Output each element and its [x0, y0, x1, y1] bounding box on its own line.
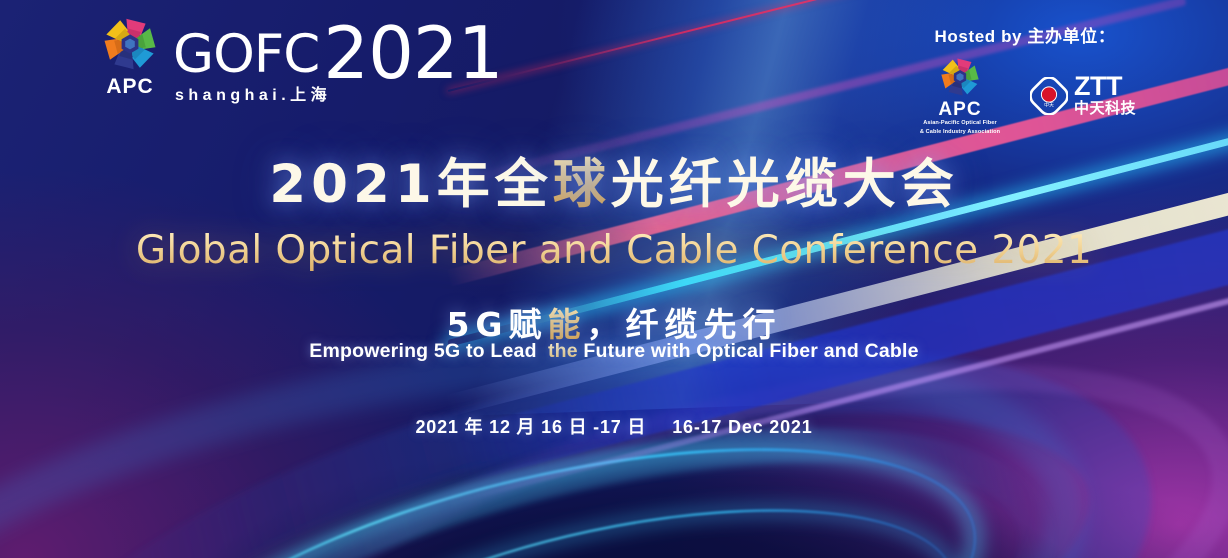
sponsor-apc-fullname-line1: Asian-Pacific Optical Fiber — [923, 120, 997, 128]
slogan-cn-part1: 5G赋 — [446, 305, 547, 344]
main-title-chinese: 2021年全球光纤光缆大会 — [0, 158, 1228, 211]
event-date-chinese: 2021 年 12 月 16 日 -17 日 — [415, 417, 646, 437]
slogan-chinese: 5G赋能，纤缆先行 — [0, 298, 1228, 346]
conference-banner: APC GOFC 2021 shanghai.上海 Hosted by 主办单位… — [0, 0, 1228, 558]
event-date-english: 16-17 Dec 2021 — [672, 417, 812, 437]
ztt-diamond-icon: 中天 — [1030, 77, 1068, 115]
gofc-year: 2021 — [323, 20, 502, 86]
sponsor-logo-ztt: 中天 ZTT 中天科技 — [1030, 74, 1136, 117]
ztt-latin-name: ZTT — [1074, 74, 1136, 100]
gofc-lockup: GOFC 2021 shanghai.上海 — [173, 14, 503, 105]
slogan-cn-highlight: 能 — [548, 305, 587, 344]
hexagon-pinwheel-icon — [938, 55, 982, 99]
gofc-wordmark: GOFC — [173, 29, 319, 81]
main-title-english: Global Optical Fiber and Cable Conferenc… — [0, 228, 1228, 273]
slogan-cn-part2: ，纤缆先行 — [587, 305, 782, 344]
sponsor-logo-apc: APC Asian-Pacific Optical Fiber & Cable … — [914, 55, 1006, 136]
sponsor-apc-fullname-line2: & Cable Industry Association — [920, 129, 1000, 137]
slogan-en-part2: Future with Optical Fiber and Cable — [583, 340, 918, 362]
hosted-by-block: Hosted by 主办单位： — [914, 22, 1136, 136]
hosted-by-label: Hosted by 主办单位： — [935, 22, 1116, 47]
hexagon-pinwheel-icon — [100, 14, 160, 74]
main-title-highlight: 球 — [553, 154, 611, 215]
banner-content: APC GOFC 2021 shanghai.上海 Hosted by 主办单位… — [0, 0, 1228, 558]
sponsor-logos: APC Asian-Pacific Optical Fiber & Cable … — [914, 55, 1136, 136]
ztt-text-block: ZTT 中天科技 — [1074, 74, 1136, 117]
event-date: 2021 年 12 月 16 日 -17 日16-17 Dec 2021 — [0, 413, 1228, 439]
slogan-english: Empowering 5G to Lead the Future with Op… — [0, 340, 1228, 363]
brand-lockup: APC GOFC 2021 shanghai.上海 — [97, 14, 503, 105]
main-title-part1: 2021年全 — [269, 154, 553, 215]
slogan-en-part1: Empowering 5G to Lead — [309, 340, 536, 362]
sponsor-apc-wordmark: APC — [938, 100, 981, 119]
slogan-en-highlight: the — [548, 340, 578, 362]
main-title-part2: 光纤光缆大会 — [611, 154, 959, 215]
apc-logo: APC — [97, 14, 163, 97]
ztt-chinese-name: 中天科技 — [1074, 101, 1136, 118]
svg-text:中天: 中天 — [1044, 101, 1054, 108]
apc-wordmark: APC — [106, 76, 153, 97]
